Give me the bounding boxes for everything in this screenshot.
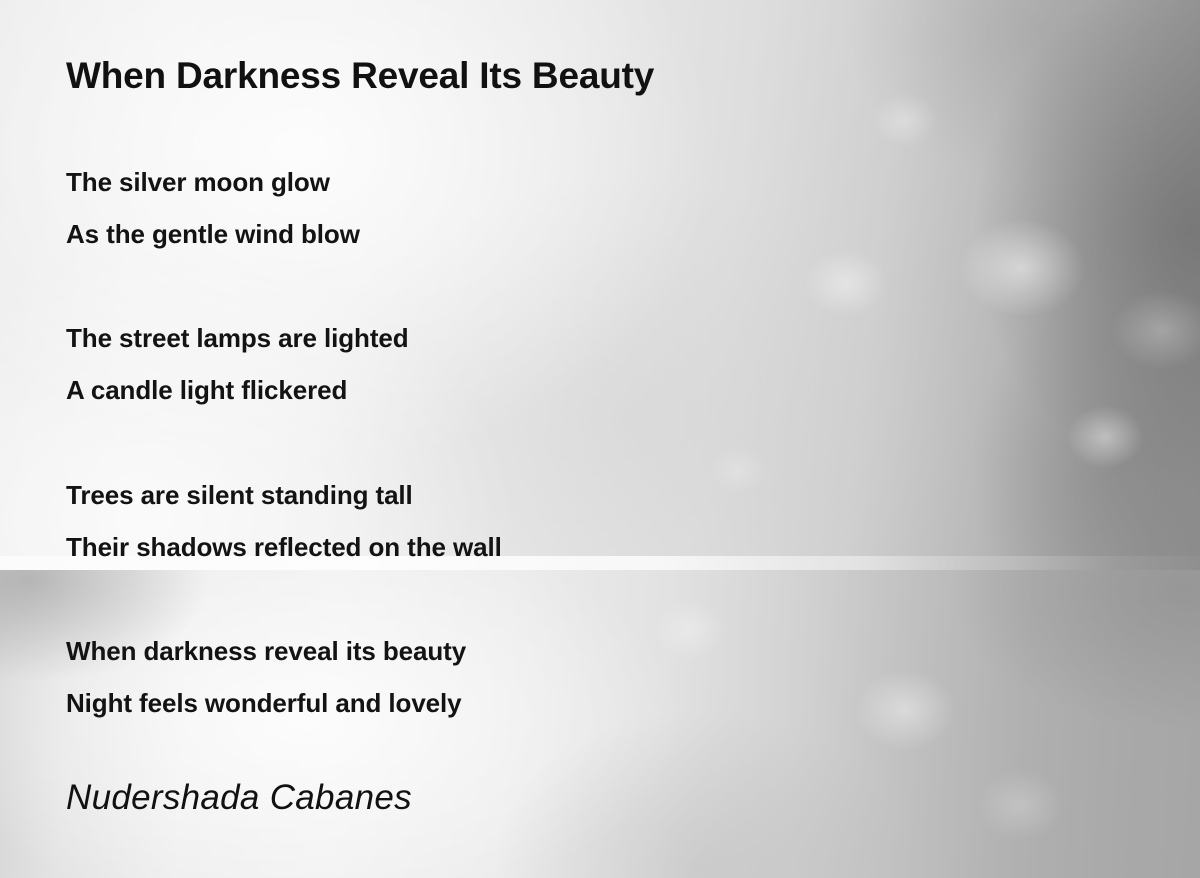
poem-line: As the gentle wind blow [66,208,360,260]
poem-card: When Darkness Reveal Its Beauty The silv… [0,0,1200,878]
poem-line: Trees are silent standing tall [66,469,502,521]
poem-line: The silver moon glow [66,156,360,208]
poem-stanza-2: The street lamps are lighted A candle li… [66,312,409,416]
poem-line: Their shadows reflected on the wall [66,521,502,573]
poem-line: Night feels wonderful and lovely [66,677,466,729]
poem-title: When Darkness Reveal Its Beauty [66,55,654,97]
poem-stanza-4: When darkness reveal its beauty Night fe… [66,625,466,729]
poem-author: Nudershada Cabanes [66,778,412,818]
poem-stanza-3: Trees are silent standing tall Their sha… [66,469,502,573]
poem-line: When darkness reveal its beauty [66,625,466,677]
poem-content: When Darkness Reveal Its Beauty The silv… [0,0,1200,878]
poem-line: A candle light flickered [66,364,409,416]
poem-line: The street lamps are lighted [66,312,409,364]
poem-stanza-1: The silver moon glow As the gentle wind … [66,156,360,260]
